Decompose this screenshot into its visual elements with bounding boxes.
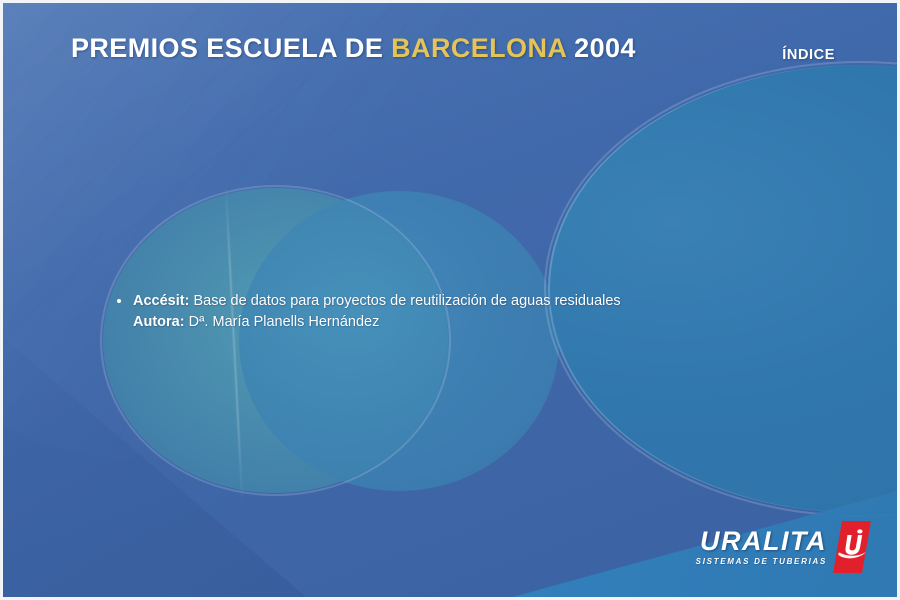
uralita-logo: URALITA SISTEMAS DE TUBERIAS (696, 521, 871, 573)
background-center-circle-outline (100, 185, 451, 496)
slide-header: PREMIOS ESCUELA DE BARCELONA 2004 ÍNDICE (3, 33, 897, 75)
bullet-line: Accésit: Base de datos para proyectos de… (133, 291, 815, 312)
author-label: Autora: (133, 314, 185, 330)
presentation-slide: PREMIOS ESCUELA DE BARCELONA 2004 ÍNDICE… (0, 0, 900, 600)
background-right-circle-outline (544, 61, 900, 517)
background-center-blue-circle (239, 191, 559, 491)
bullet-item: Accésit: Base de datos para proyectos de… (115, 291, 815, 333)
page-title: PREMIOS ESCUELA DE BARCELONA 2004 (71, 33, 636, 64)
logo-wordmark: URALITA SISTEMAS DE TUBERIAS (696, 528, 827, 566)
page-title-part2: 2004 (566, 33, 636, 63)
award-title: Base de datos para proyectos de reutiliz… (193, 293, 620, 309)
background-highlight-line (225, 183, 244, 503)
bullet-dot-icon (117, 299, 121, 303)
award-label: Accésit: (133, 293, 189, 309)
page-title-accent: BARCELONA (391, 33, 566, 63)
author-name: Dª. María Planells Hernández (189, 314, 380, 330)
uralita-u-swoosh-icon (833, 521, 871, 573)
background-lower-left-wedge (0, 303, 383, 600)
slide-body: Accésit: Base de datos para proyectos de… (115, 291, 815, 333)
logo-company-name: URALITA (700, 528, 827, 555)
logo-tagline: SISTEMAS DE TUBERIAS (696, 558, 827, 566)
background-center-teal-circle (103, 188, 448, 493)
background-right-circle (548, 65, 900, 513)
bullet-line: Autora: Dª. María Planells Hernández (133, 312, 815, 333)
index-link[interactable]: ÍNDICE (782, 47, 835, 63)
page-title-part1: PREMIOS ESCUELA DE (71, 33, 391, 63)
